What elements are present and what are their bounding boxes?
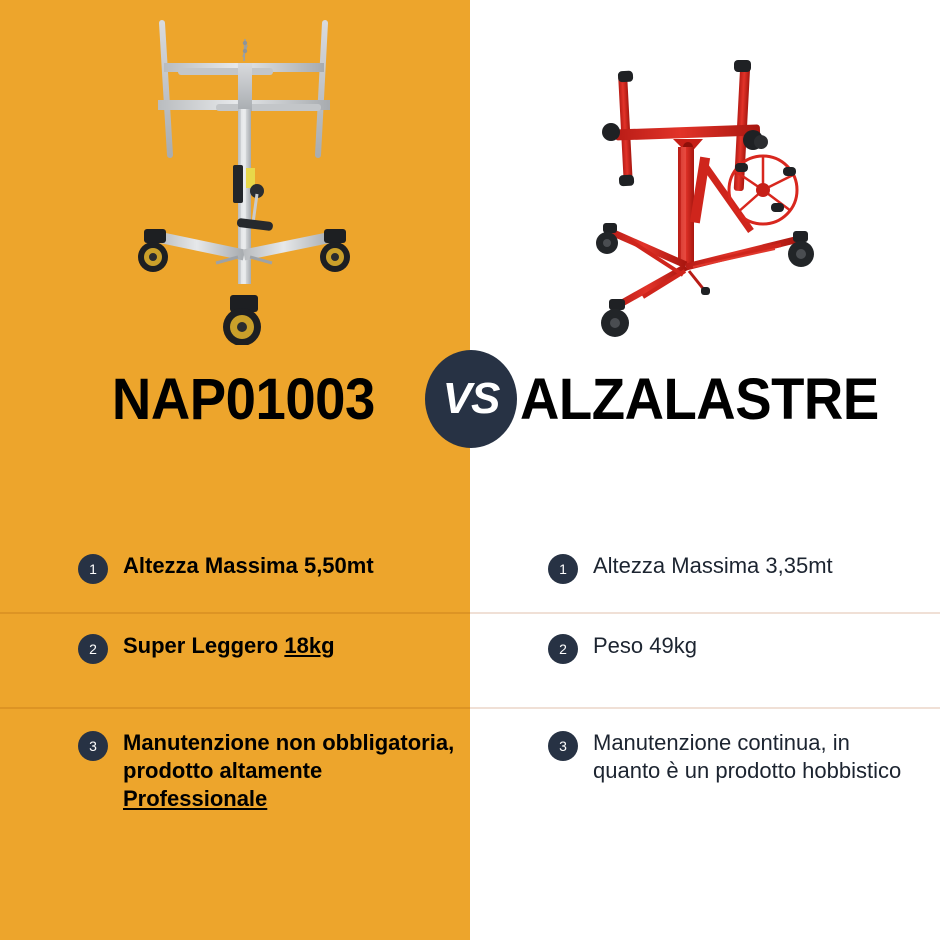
row-2-left-text-plain: Super Leggero xyxy=(123,633,284,658)
caster-wheel xyxy=(223,295,261,345)
row-2-right-text: Peso 49kg xyxy=(593,632,697,660)
silver-drywall-lift-image xyxy=(120,5,390,345)
row-2-left-cell: 2 Super Leggero 18kg xyxy=(78,632,458,664)
row-3-left-text-emphasis: Professionale xyxy=(123,786,267,811)
caster-wheel xyxy=(320,229,350,272)
row-2-left-text-emphasis: 18kg xyxy=(284,633,334,658)
row-2-left-text: Super Leggero 18kg xyxy=(123,632,335,660)
comparison-table: 1 Altezza Massima 5,50mt 1 Altezza Massi… xyxy=(0,460,940,900)
row-3-left-text: Manutenzione non obbligatoria, prodotto … xyxy=(123,729,458,813)
row-divider-right xyxy=(470,612,940,614)
versus-label: VS xyxy=(443,374,500,424)
row-1-right-cell: 1 Altezza Massima 3,35mt xyxy=(548,552,918,584)
row-1-left-cell: 1 Altezza Massima 5,50mt xyxy=(78,552,458,584)
caster-wheel xyxy=(788,231,814,267)
comparison-row: 2 Super Leggero 18kg 2 Peso 49kg xyxy=(0,612,940,707)
row-number-badge: 3 xyxy=(548,731,578,761)
row-3-left-text-plain: Manutenzione non obbligatoria, prodotto … xyxy=(123,730,454,783)
left-product-title: NAP01003 xyxy=(25,345,420,455)
row-3-left-cell: 3 Manutenzione non obbligatoria, prodott… xyxy=(78,729,458,813)
row-3-right-text: Manutenzione continua, in quanto è un pr… xyxy=(593,729,918,785)
caster-wheel xyxy=(596,223,618,254)
product-images-area xyxy=(0,0,940,345)
comparison-row: 1 Altezza Massima 5,50mt 1 Altezza Massi… xyxy=(0,460,940,612)
row-number-badge: 1 xyxy=(548,554,578,584)
row-1-right-text: Altezza Massima 3,35mt xyxy=(593,552,833,580)
row-divider-right xyxy=(470,707,940,709)
row-number-badge: 1 xyxy=(78,554,108,584)
row-divider-left xyxy=(0,612,470,614)
versus-badge: VS xyxy=(425,350,517,448)
row-number-badge: 2 xyxy=(78,634,108,664)
right-product-title: ALZALASTRE xyxy=(520,345,915,455)
row-1-left-text: Altezza Massima 5,50mt xyxy=(123,552,374,580)
red-drywall-lift-image xyxy=(585,35,855,340)
comparison-row: 3 Manutenzione non obbligatoria, prodott… xyxy=(0,707,940,900)
row-number-badge: 3 xyxy=(78,731,108,761)
row-number-badge: 2 xyxy=(548,634,578,664)
row-divider-left xyxy=(0,707,470,709)
caster-wheel xyxy=(138,229,168,272)
comparison-infographic: NAP01003 ALZALASTRE VS 1 Altezza Massima… xyxy=(0,0,940,940)
caster-wheel xyxy=(601,299,629,337)
row-3-right-cell: 3 Manutenzione continua, in quanto è un … xyxy=(548,729,918,785)
row-2-right-cell: 2 Peso 49kg xyxy=(548,632,918,664)
